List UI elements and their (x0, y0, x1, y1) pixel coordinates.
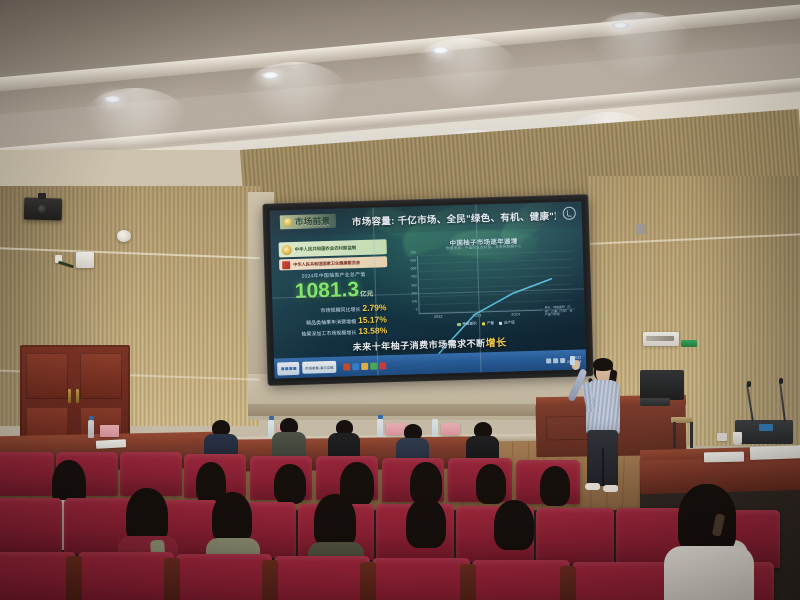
ceiling-spotlight (432, 47, 449, 54)
presentation-slide: 市场前景 市场容量: 千亿市场、全民"绿色、有机、健康"意识提升 中华人民共和国… (270, 201, 586, 358)
place-name-card (386, 423, 405, 435)
browser-icon[interactable] (352, 363, 359, 370)
chart-gridline (419, 275, 574, 281)
chart-legend-label: 总产值 (504, 320, 515, 325)
chart-y-tick-label: 700 (410, 250, 416, 254)
presenter-clicker[interactable] (570, 356, 575, 365)
bottle-cap (269, 416, 274, 420)
slide-section-tag: 市场前景 (280, 214, 336, 230)
seat-armrest (66, 556, 82, 600)
audience-hair (274, 464, 306, 504)
ceiling-spotlight (104, 96, 121, 103)
chart-unit-note: 单位：种植面积（万亩） 产量（万吨） 总产值（亿元） (543, 305, 577, 319)
auditorium-seat[interactable] (536, 508, 614, 564)
document-sheet (704, 452, 744, 463)
auditorium-seat[interactable] (372, 558, 470, 600)
wall-control-panel (76, 252, 94, 268)
kpi-value: 15.17% (358, 314, 387, 325)
chart-y-tick-label: 500 (411, 267, 417, 271)
water-bottle (88, 420, 94, 438)
chart-legend-swatch (499, 322, 503, 326)
auditorium-seat[interactable] (472, 560, 570, 600)
bottle-cap (89, 416, 94, 420)
seat-armrest (262, 560, 278, 600)
chart-legend-item: 总产值 (499, 320, 515, 325)
taskbar-window-button[interactable]: 市场前景-演示文稿 (302, 361, 337, 374)
kpi-label: 精品类柚果年消费增幅 (306, 318, 356, 326)
chart-y-tick-label: 100 (412, 299, 418, 303)
chart-gridline (419, 283, 574, 289)
audience-hair (678, 484, 736, 554)
audience-hair (540, 466, 570, 506)
stool-leg (673, 422, 676, 448)
audience-hair (494, 500, 534, 550)
ceiling-light-glow (585, 12, 695, 82)
chart-y-tick-label: 300 (411, 283, 417, 287)
auditorium-seat[interactable] (572, 562, 672, 600)
chart-y-tick-label: 600 (410, 258, 416, 262)
ceiling-light-glow (410, 38, 520, 108)
presenter-shoe (585, 483, 600, 490)
chart-y-tick-label: 0 (416, 307, 418, 311)
ministry-badge-secondary-label: 中华人民共和国国家卫生健康委员会 (293, 260, 360, 268)
ministry-badge-primary: 中华人民共和国农业农村部监制 (279, 239, 387, 257)
seat-armrest (360, 562, 376, 600)
water-bottle (377, 419, 383, 437)
mic-controller[interactable] (759, 424, 773, 431)
microphone-head (747, 381, 751, 387)
slide-section-tag-label: 市场前景 (295, 215, 331, 228)
ministry-badge-secondary: 中华人民共和国国家卫生健康委员会 (279, 256, 387, 270)
headline-statistic: 1081.3亿元 (280, 278, 389, 302)
bottle-cap (378, 415, 383, 419)
ministry-badge-primary-label: 中华人民共和国农业农村部监制 (295, 245, 357, 252)
ceiling-light-glow (80, 88, 190, 158)
wall-speaker-cone (38, 205, 46, 213)
kpi-row: 市场规模同比增长 2.79% (320, 302, 386, 314)
audience-hair (476, 464, 506, 504)
paper-cup (733, 432, 742, 445)
door-handle[interactable] (76, 389, 79, 403)
door-panel (26, 353, 68, 399)
volume-icon[interactable] (553, 358, 558, 363)
seat-armrest (164, 558, 180, 600)
chart-x-tick-label: 2023 (473, 313, 482, 317)
chart-legend-label: 产量 (487, 321, 494, 326)
chart-legend-item: 产量 (482, 321, 494, 326)
chart-legend-item: 种植面积 (457, 322, 477, 328)
kpi-value: 13.58% (358, 325, 387, 336)
national-emblem-icon (282, 245, 292, 255)
document-sheet (750, 445, 800, 460)
auditorium-seat[interactable] (0, 552, 76, 600)
app-icon[interactable] (379, 362, 386, 369)
wall-outlet[interactable] (717, 433, 727, 441)
slide-chart: 中国柚子市场逐年递增 数据来源：中国农业农村部、互联网数据中心 01002003… (390, 234, 579, 331)
wall-speaker-bracket (38, 193, 46, 199)
auditorium-seat[interactable] (176, 554, 272, 600)
seat-armrest (460, 564, 476, 600)
water-bottle (432, 419, 438, 437)
chart-legend-swatch (482, 322, 486, 326)
national-emblem-icon (282, 261, 290, 269)
exit-sign (681, 340, 697, 347)
place-name-card (100, 425, 119, 437)
ceiling-light-glow (240, 62, 350, 132)
chart-y-tick-label: 400 (411, 275, 417, 279)
chart-gridline (419, 300, 574, 306)
door-handle[interactable] (68, 389, 71, 403)
panel-breaker-row (646, 336, 674, 341)
av-equipment-box (640, 398, 670, 406)
chart-x-tick-label: 2024 (511, 312, 520, 316)
audience-hair (212, 492, 252, 544)
kpi-list: 市场规模同比增长 2.79% 精品类柚果年消费增幅 15.17% 柚果深加工市场… (280, 302, 389, 338)
ppt-icon[interactable] (343, 363, 350, 370)
slide-stat-panel: 中华人民共和国农业农村部监制 中华人民共和国国家卫生健康委员会 2024年中国柚… (279, 239, 390, 338)
ceiling-spotlight (262, 72, 279, 79)
video-wall-screen[interactable]: 市场前景 市场容量: 千亿市场、全民"绿色、有机、健康"意识提升 中华人民共和国… (270, 201, 587, 378)
audience-torso (664, 546, 754, 600)
headline-statistic-value: 1081.3 (295, 278, 360, 303)
electrical-distribution-panel[interactable] (643, 332, 679, 346)
ceiling-spotlight (612, 22, 629, 29)
av-monitor (640, 370, 684, 400)
stool-leg (690, 422, 693, 448)
door-panel (80, 353, 122, 399)
chart-legend-swatch (457, 323, 461, 327)
seat-armrest (560, 566, 576, 600)
auditorium-seat[interactable] (0, 452, 54, 496)
auditorium-seat[interactable] (0, 498, 62, 554)
wall-clock (117, 230, 131, 242)
input-method-icon[interactable] (560, 357, 565, 362)
chart-x-tick-label: 2022 (434, 314, 443, 318)
citrus-dot-icon (284, 218, 292, 226)
auditorium-seat[interactable] (78, 552, 174, 600)
document-sheet (96, 439, 126, 449)
audience-hair (406, 498, 446, 548)
chart-gridline (418, 259, 573, 265)
network-icon[interactable] (546, 358, 551, 363)
slide-footer-highlight: 增长 (485, 338, 506, 350)
microphone-head (779, 378, 783, 384)
chart-gridline (418, 267, 573, 273)
place-name-card (441, 423, 460, 435)
presenter (576, 352, 630, 498)
conference-hall-scene: 市场前景 市场容量: 千亿市场、全民"绿色、有机、健康"意识提升 中华人民共和国… (0, 0, 800, 600)
auditorium-seat[interactable] (274, 556, 370, 600)
presenter-trouser-split (602, 448, 604, 486)
wall-bracket-right (636, 224, 646, 234)
chart-legend-label: 种植面积 (462, 322, 477, 327)
kpi-label: 市场规模同比增长 (320, 306, 360, 314)
presenter-hair-bun (593, 358, 613, 371)
led-video-wall[interactable]: 市场前景 市场容量: 千亿市场、全民"绿色、有机、健康"意识提升 中华人民共和国… (263, 195, 592, 385)
audience-hair (314, 494, 356, 548)
start-button[interactable] (277, 361, 299, 375)
taskbar-quick-launch[interactable] (343, 362, 386, 370)
folder-icon[interactable] (361, 362, 368, 369)
presenter-shoe (603, 485, 618, 492)
